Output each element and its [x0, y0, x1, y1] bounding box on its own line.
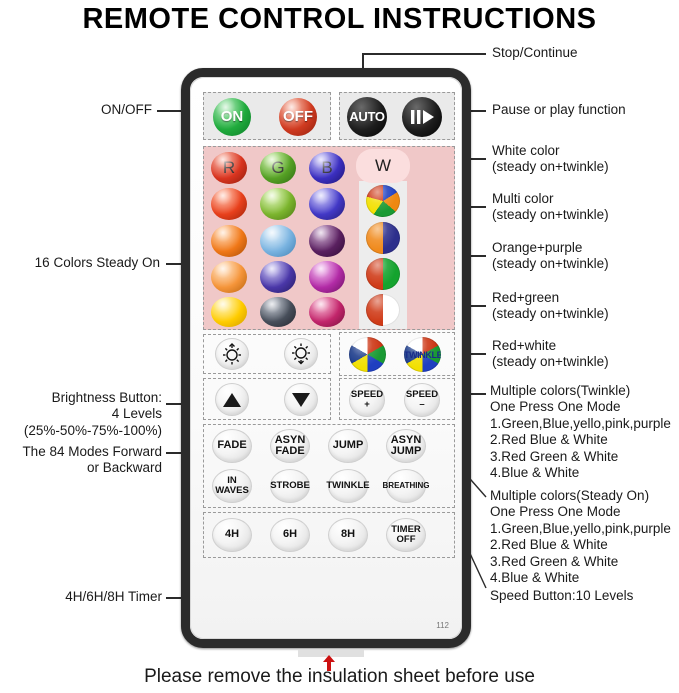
label-speed-button: Speed Button:10 Levels [490, 588, 679, 604]
mode-forward-button[interactable] [215, 383, 249, 416]
steady-item-4: 4.Blue & White [490, 570, 679, 586]
label-84-modes-line1: The 84 Modes Forward [0, 444, 162, 460]
label-84-modes: The 84 Modes Forward or Backward [0, 444, 162, 477]
strobe-label: STROBE [270, 481, 310, 491]
label-multi-color: Multi color (steady on+twinkle) [492, 191, 677, 224]
in-waves-button[interactable]: IN WAVES [212, 469, 252, 503]
label-pause-play-text: Pause or play function [492, 102, 626, 117]
power-group: ON OFF [203, 92, 331, 140]
gloss [309, 188, 345, 220]
label-pause-play: Pause or play function [492, 102, 677, 118]
gloss [211, 188, 247, 220]
speed-plus-sign: + [364, 400, 370, 410]
timer-8h-button[interactable]: 8H [328, 518, 368, 552]
gloss [366, 222, 400, 254]
label-steady-title2: One Press One Mode [490, 504, 679, 520]
timer-group: 4H 6H 8H TIMER OFF [203, 512, 455, 558]
gloss [309, 297, 345, 327]
in-waves-label: IN WAVES [215, 476, 249, 495]
gloss [309, 261, 345, 293]
mode-backward-button[interactable] [284, 383, 318, 416]
jump-label: JUMP [333, 440, 364, 451]
multi-color-button[interactable] [366, 185, 400, 217]
blue-button[interactable]: B [309, 152, 345, 184]
timer-6h-label: 6H [283, 529, 297, 540]
label-brightness-line1: Brightness Button: [10, 390, 162, 406]
footer-note: Please remove the insulation sheet befor… [0, 666, 679, 688]
label-twinkle-modes: Multiple colors(Twinkle) One Press One M… [490, 383, 679, 482]
steady-item-1: 1.Green,Blue,yello,pink,purple [490, 521, 679, 537]
brightness-down-button[interactable] [284, 338, 318, 370]
triangle-up-icon [221, 391, 243, 409]
label-stop-continue-text: Stop/Continue [492, 45, 578, 60]
color-swatch[interactable] [309, 261, 345, 293]
fade-label: FADE [217, 440, 246, 451]
label-speed-button-text: Speed Button:10 Levels [490, 588, 633, 603]
timer-8h-label: 8H [341, 529, 355, 540]
color-swatch[interactable] [260, 261, 296, 293]
label-red-white-line1: Red+white [492, 338, 677, 354]
gloss [366, 185, 400, 217]
on-button-label: ON [221, 109, 244, 124]
red-white-button[interactable] [366, 294, 400, 326]
pause-play-icon [409, 108, 435, 126]
label-twinkle-title1: Multiple colors(Twinkle) [490, 383, 679, 399]
color-grid-panel: R G B W [203, 146, 455, 330]
color-swatch[interactable] [260, 297, 296, 327]
color-swatch[interactable] [211, 297, 247, 327]
color-swatch[interactable] [309, 188, 345, 220]
twinkle-pie-group: TWINKLE [339, 332, 455, 376]
twinkle-item-4: 4.Blue & White [490, 465, 679, 481]
steady-item-2: 2.Red Blue & White [490, 537, 679, 553]
white-button[interactable]: W [356, 149, 410, 183]
color-swatch[interactable] [260, 225, 296, 257]
gloss [366, 258, 400, 290]
sun-up-icon [220, 342, 244, 366]
red-green-button[interactable] [366, 258, 400, 290]
color-swatch[interactable] [260, 188, 296, 220]
label-16-colors-text: 16 Colors Steady On [35, 255, 160, 270]
color-swatch[interactable] [211, 225, 247, 257]
gloss [260, 188, 296, 220]
label-stop-continue: Stop/Continue [492, 45, 672, 61]
brightness-up-button[interactable] [215, 338, 249, 370]
label-timer: 4H/6H/8H Timer [10, 589, 162, 605]
label-white-color: White color (steady on+twinkle) [492, 143, 677, 176]
color-swatch[interactable] [309, 225, 345, 257]
timer-4h-label: 4H [225, 529, 239, 540]
label-brightness-line3: (25%-50%-75%-100%) [10, 423, 162, 439]
twinkle-item-2: 2.Red Blue & White [490, 432, 679, 448]
label-brightness-line2: 4 Levels [10, 406, 162, 422]
asyn-fade-label: ASYN FADE [275, 435, 306, 457]
white-button-label: W [375, 156, 391, 176]
green-button-label: G [271, 159, 284, 176]
label-on-off-text: ON/OFF [101, 102, 152, 117]
label-orange-purple-line2: (steady on+twinkle) [492, 256, 677, 272]
off-button-label: OFF [283, 109, 313, 124]
gloss [211, 261, 247, 293]
label-84-modes-line2: or Backward [0, 460, 162, 476]
jump-button[interactable]: JUMP [328, 429, 368, 463]
label-on-off: ON/OFF [10, 102, 152, 118]
timer-off-button[interactable]: TIMER OFF [386, 518, 426, 552]
asyn-fade-button[interactable]: ASYN FADE [270, 429, 310, 463]
asyn-jump-button[interactable]: ASYN JUMP [386, 429, 426, 463]
auto-button-label: AUTO [349, 110, 384, 123]
on-button[interactable]: ON [213, 98, 251, 136]
twinkle-mode-label: TWINKLE [326, 481, 369, 491]
triangle-down-icon [290, 391, 312, 409]
multi-twinkle-button[interactable]: TWINKLE [404, 337, 441, 372]
multi-steady-button[interactable] [349, 337, 386, 372]
timer-4h-button[interactable]: 4H [212, 518, 252, 552]
remote-faceplate: ON OFF AUTO [190, 77, 462, 639]
fade-button[interactable]: FADE [212, 429, 252, 463]
label-twinkle-title2: One Press One Mode [490, 399, 679, 415]
auto-group: AUTO [339, 92, 455, 140]
label-red-white-line2: (steady on+twinkle) [492, 354, 677, 370]
gloss [366, 294, 400, 326]
gloss [349, 337, 386, 372]
timer-off-label: TIMER OFF [391, 525, 421, 544]
remote-control-body: ON OFF AUTO [181, 68, 471, 648]
label-16-colors: 16 Colors Steady On [0, 255, 160, 271]
model-code: 112 [436, 621, 449, 630]
twinkle-item-3: 3.Red Green & White [490, 449, 679, 465]
gloss [309, 225, 345, 257]
pause-play-button[interactable] [402, 97, 442, 137]
mode-group: FADE ASYN FADE JUMP ASYN JUMP IN WAVES S… [203, 424, 455, 508]
strobe-button[interactable]: STROBE [270, 469, 310, 503]
label-multi-line2: (steady on+twinkle) [492, 207, 677, 223]
color-swatch[interactable] [211, 261, 247, 293]
steady-item-3: 3.Red Green & White [490, 554, 679, 570]
label-red-white: Red+white (steady on+twinkle) [492, 338, 677, 371]
gloss [260, 225, 296, 257]
label-steady-modes: Multiple colors(Steady On) One Press One… [490, 488, 679, 587]
gloss [211, 225, 247, 257]
red-button-label: R [223, 159, 235, 176]
color-swatch[interactable] [211, 188, 247, 220]
speed-plus-button[interactable]: SPEED + [349, 383, 385, 417]
sun-down-icon [289, 342, 313, 366]
twinkle-mode-button[interactable]: TWINKLE [328, 469, 368, 503]
speed-minus-button[interactable]: SPEED – [404, 383, 440, 417]
orange-purple-button[interactable] [366, 222, 400, 254]
brightness-group [203, 334, 331, 374]
label-white-line2: (steady on+twinkle) [492, 159, 677, 175]
label-red-green: Red+green (steady on+twinkle) [492, 290, 677, 323]
label-brightness: Brightness Button: 4 Levels (25%-50%-75%… [10, 390, 162, 439]
breathing-button[interactable]: BREATHING [386, 469, 426, 503]
timer-6h-button[interactable]: 6H [270, 518, 310, 552]
label-white-line1: White color [492, 143, 677, 159]
green-button[interactable]: G [260, 152, 296, 184]
label-orange-purple-line1: Orange+purple [492, 240, 677, 256]
auto-button[interactable]: AUTO [347, 97, 387, 137]
speed-group: SPEED + SPEED – [339, 378, 455, 420]
speed-minus-sign: – [419, 400, 424, 410]
twinkle-item-1: 1.Green,Blue,yello,pink,purple [490, 416, 679, 432]
asyn-jump-label: ASYN JUMP [391, 435, 422, 457]
gloss [260, 261, 296, 293]
label-timer-text: 4H/6H/8H Timer [65, 589, 162, 604]
red-button[interactable]: R [211, 152, 247, 184]
label-multi-line1: Multi color [492, 191, 677, 207]
label-orange-purple: Orange+purple (steady on+twinkle) [492, 240, 677, 273]
gloss [260, 297, 296, 327]
mode-arrow-group [203, 378, 331, 420]
multi-twinkle-label: TWINKLE [404, 350, 441, 360]
off-button[interactable]: OFF [279, 98, 317, 136]
gloss [211, 297, 247, 327]
color-swatch[interactable] [309, 297, 345, 327]
label-steady-title1: Multiple colors(Steady On) [490, 488, 679, 504]
label-red-green-line2: (steady on+twinkle) [492, 306, 677, 322]
label-red-green-line1: Red+green [492, 290, 677, 306]
breathing-label: BREATHING [383, 482, 430, 490]
blue-button-label: B [321, 159, 332, 176]
